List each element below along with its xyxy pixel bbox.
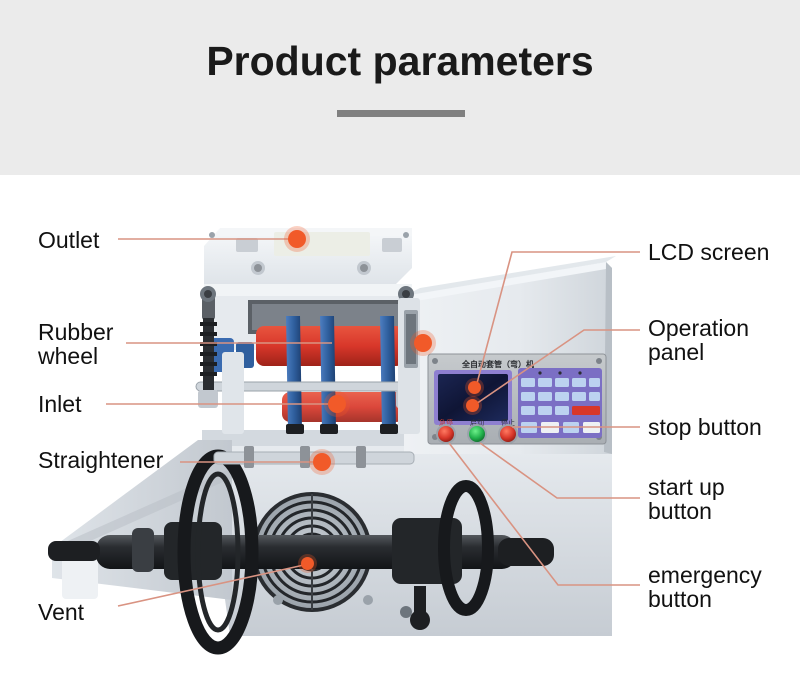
emergency-button xyxy=(438,426,454,442)
callout-dot-lcd xyxy=(468,381,481,394)
callout-dot-outlet xyxy=(288,230,306,248)
stop-button xyxy=(500,426,516,442)
label-straightener: Straightener xyxy=(38,448,163,472)
label-lcd-screen: LCD screen xyxy=(648,240,769,264)
label-inlet: Inlet xyxy=(38,392,81,416)
callout-dot-inlet xyxy=(328,395,346,413)
diagram-stage: 全自动套管（弯）机 xyxy=(0,175,800,685)
keypad-accent-key xyxy=(572,406,600,415)
callout-dot-vent xyxy=(301,557,314,570)
control-panel[interactable]: 全自动套管（弯）机 xyxy=(428,354,606,444)
lcd-screen[interactable] xyxy=(434,370,512,425)
callout-dot-operation-panel xyxy=(466,399,479,412)
label-rubber-wheel: Rubber wheel xyxy=(38,320,113,368)
push-buttons[interactable]: 急停 启动 停止 xyxy=(436,418,518,444)
callout-dot-rubber-wheel xyxy=(414,334,432,352)
machine-nameplate: 全自动套管（弯）机 xyxy=(461,359,534,369)
label-stop-button: stop button xyxy=(648,415,762,439)
nameplate-text: 全自动套管（弯）机 xyxy=(461,359,534,369)
machine-head xyxy=(196,228,420,434)
callout-dot-straightener xyxy=(313,453,331,471)
start-up-button xyxy=(469,426,485,442)
label-vent: Vent xyxy=(38,600,84,624)
label-outlet: Outlet xyxy=(38,228,99,252)
product-parameters-page: Product parameters xyxy=(0,0,800,685)
operation-keypad[interactable] xyxy=(518,368,602,438)
label-emergency-button: emergency button xyxy=(648,563,762,611)
label-operation-panel: Operation panel xyxy=(648,316,749,364)
label-start-up-button: start up button xyxy=(648,475,725,523)
